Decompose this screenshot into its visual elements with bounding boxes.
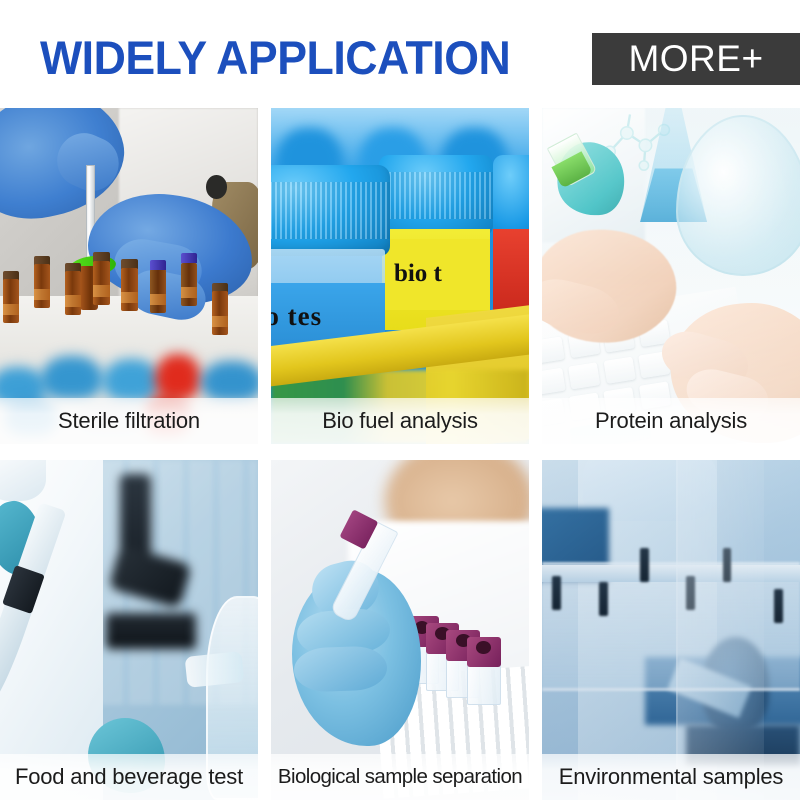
page-header: WIDELY APPLICATION MORE+: [0, 0, 800, 108]
application-gallery-grid: Sterile filtration bio t: [0, 108, 800, 800]
gallery-card-sterile-filtration[interactable]: Sterile filtration: [0, 108, 258, 444]
jar-label-secondary: bio t: [394, 260, 442, 288]
gallery-card-biological-sample-separation[interactable]: Biological sample separation: [271, 460, 529, 800]
card-caption: Biological sample separation: [271, 754, 529, 800]
card-caption: Food and beverage test: [0, 754, 258, 800]
photo-biological-sample-separation: [271, 460, 529, 800]
more-button[interactable]: MORE+: [592, 33, 800, 85]
card-caption: Protein analysis: [542, 398, 800, 444]
photo-sterile-filtration: [0, 108, 258, 444]
card-caption: Environmental samples: [542, 754, 800, 800]
gallery-card-bio-fuel-analysis[interactable]: bio t bio tes Bio fuel analysis: [271, 108, 529, 444]
card-caption: Sterile filtration: [0, 398, 258, 444]
photo-environmental-samples: [542, 460, 800, 800]
photo-protein-analysis: [542, 108, 800, 444]
photo-food-and-beverage-test: [0, 460, 258, 800]
gallery-card-environmental-samples[interactable]: Environmental samples: [542, 460, 800, 800]
gallery-card-food-and-beverage-test[interactable]: Food and beverage test: [0, 460, 258, 800]
page-title: WIDELY APPLICATION: [40, 30, 510, 85]
gallery-card-protein-analysis[interactable]: Protein analysis: [542, 108, 800, 444]
jar-label-primary: bio tes: [271, 301, 322, 332]
card-caption: Bio fuel analysis: [271, 398, 529, 444]
application-showcase-page: WIDELY APPLICATION MORE+: [0, 0, 800, 800]
photo-bio-fuel-analysis: bio t bio tes: [271, 108, 529, 444]
